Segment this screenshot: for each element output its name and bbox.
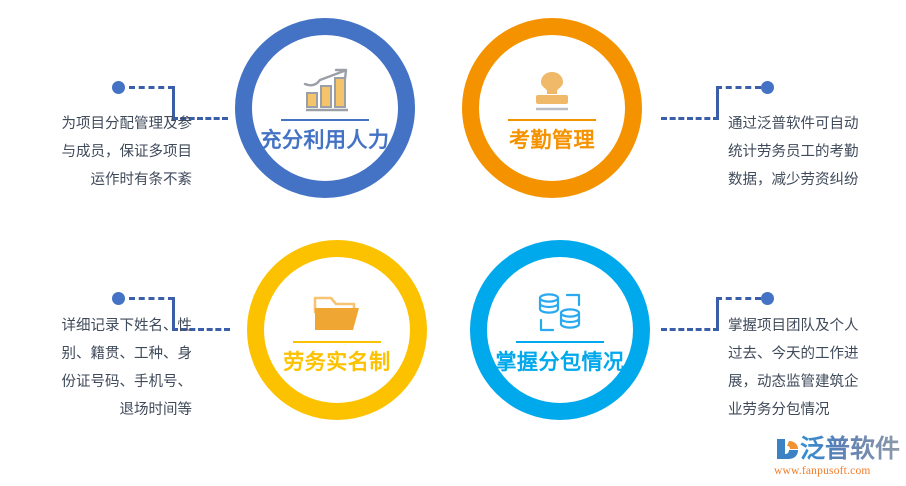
node-label-top-right: 考勤管理 [509,130,595,151]
node-label-bottom-left: 劳务实名制 [283,352,391,373]
node-label-bottom-right: 掌握分包情况 [496,352,625,373]
stamp-icon [528,66,576,112]
node-circle-bottom-right[interactable]: 掌握分包情况 [470,240,650,420]
node-divider-top-left [281,119,369,121]
fanpu-swoosh-icon [774,436,800,462]
logo-url-text: www.fanpusoft.com [774,465,871,477]
node-circle-bottom-left[interactable]: 劳务实名制 [247,240,427,420]
logo-brand-text: 泛普软件 [800,435,900,463]
connector-dash-lower-top-right [661,117,719,120]
bar-chart-growth-icon [298,66,352,112]
infographic-canvas: 充分利用人力 考勤管理 劳务实名制 [0,0,906,486]
connector-dash-lower-bottom-right [661,328,719,331]
connector-dash-upper-bottom-right [716,297,761,300]
connector-vertical-top-right [716,86,719,119]
connector-dash-upper-top-left [129,86,174,89]
open-folder-icon [311,288,363,334]
description-top-right: 通过泛普软件可自动 统计劳务员工的考勤 数据，减少劳资纠纷 [728,110,906,194]
connector-dot-bottom-right [761,292,774,305]
fanpusoft-logo[interactable]: 泛普软件 www.fanpusoft.com [772,436,900,480]
node-circle-top-left[interactable]: 充分利用人力 [235,18,415,198]
connector-dash-upper-bottom-left [129,297,174,300]
connector-dot-bottom-left [112,292,125,305]
description-bottom-left: 详细记录下姓名、性 别、籍贯、工种、身 份证号码、手机号、 退场时间等 [8,312,192,424]
connector-vertical-bottom-right [716,297,719,330]
node-label-top-left: 充分利用人力 [261,130,390,151]
node-divider-bottom-left [293,341,381,343]
connector-dash-upper-top-right [716,86,761,89]
node-divider-bottom-right [516,341,604,343]
node-divider-top-right [508,119,596,121]
node-circle-top-right[interactable]: 考勤管理 [462,18,642,198]
database-sync-icon [534,288,586,334]
connector-dot-top-left [112,81,125,94]
description-top-left: 为项目分配管理及参 与成员，保证多项目 运作时有条不紊 [12,110,192,194]
connector-dot-top-right [761,81,774,94]
description-bottom-right: 掌握项目团队及个人 过去、今天的工作进 展，动态监管建筑企 业劳务分包情况 [728,312,906,424]
